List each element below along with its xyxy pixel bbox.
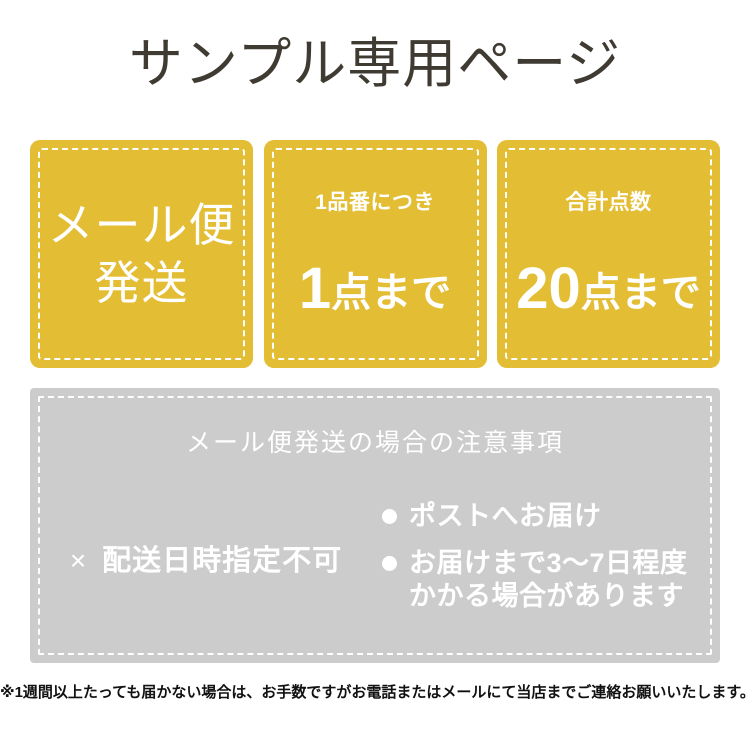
notice-bullet-list: ポストへお届け お届けまで3〜7日程度 かかる場合があります [382, 488, 720, 613]
card-total-limit: 合計点数 20点まで [497, 140, 720, 368]
notice-bullet-line1: お届けまで3〜7日程度 [409, 548, 688, 578]
card-per-item-limit-unit: 点まで [331, 271, 451, 315]
cross-mark-icon: × [70, 547, 86, 575]
notice-restriction-item: × 配送日時指定不可 [30, 488, 382, 633]
page-title: サンプル専用ページ [0, 32, 750, 96]
card-total-limit-number: 20 [516, 256, 581, 321]
info-card-row: メール便 発送 1品番につき 1点まで 合計点数 20点まで [30, 140, 720, 368]
notice-bullet-text: ポストへお届け [409, 500, 602, 533]
notice-bullet-line1: ポストへお届け [409, 501, 602, 531]
footer-note: ※1週間以上たっても届かない場合は、お手数ですがお電話またはメールにて当店までご… [0, 683, 750, 703]
list-item: お届けまで3〜7日程度 かかる場合があります [382, 547, 720, 613]
notice-bullet-text: お届けまで3〜7日程度 かかる場合があります [409, 547, 688, 613]
notice-restriction-label: 配送日時指定不可 [102, 545, 342, 577]
notice-panel: メール便発送の場合の注意事項 × 配送日時指定不可 ポストへお届け お届けまで3… [30, 388, 720, 663]
bullet-dot-icon [382, 509, 397, 524]
card-shipping-method: メール便 発送 [30, 140, 253, 368]
notice-panel-heading: メール便発送の場合の注意事項 [30, 428, 720, 458]
card-shipping-method-line1: メール便 [30, 196, 253, 254]
card-shipping-method-content: メール便 発送 [30, 196, 253, 312]
card-total-limit-caption: 合計点数 [497, 190, 720, 216]
card-per-item-limit-value: 1点まで [264, 260, 487, 318]
card-per-item-limit-number: 1 [299, 256, 331, 321]
list-item: ポストへお届け [382, 500, 720, 533]
card-per-item-limit-content: 1品番につき 1点まで [264, 190, 487, 318]
card-total-limit-value: 20点まで [497, 260, 720, 318]
card-per-item-limit-caption: 1品番につき [264, 190, 487, 216]
bullet-dot-icon [382, 556, 397, 571]
card-shipping-method-line2: 発送 [30, 254, 253, 312]
card-total-limit-unit: 点まで [581, 271, 701, 315]
notice-panel-body: × 配送日時指定不可 ポストへお届け お届けまで3〜7日程度 かかる場合がありま… [30, 488, 720, 648]
card-total-limit-content: 合計点数 20点まで [497, 190, 720, 318]
sample-shipping-banner: サンプル専用ページ メール便 発送 1品番につき 1点まで 合計点数 [0, 0, 750, 750]
notice-bullet-line2: かかる場合があります [409, 581, 684, 611]
card-per-item-limit: 1品番につき 1点まで [264, 140, 487, 368]
